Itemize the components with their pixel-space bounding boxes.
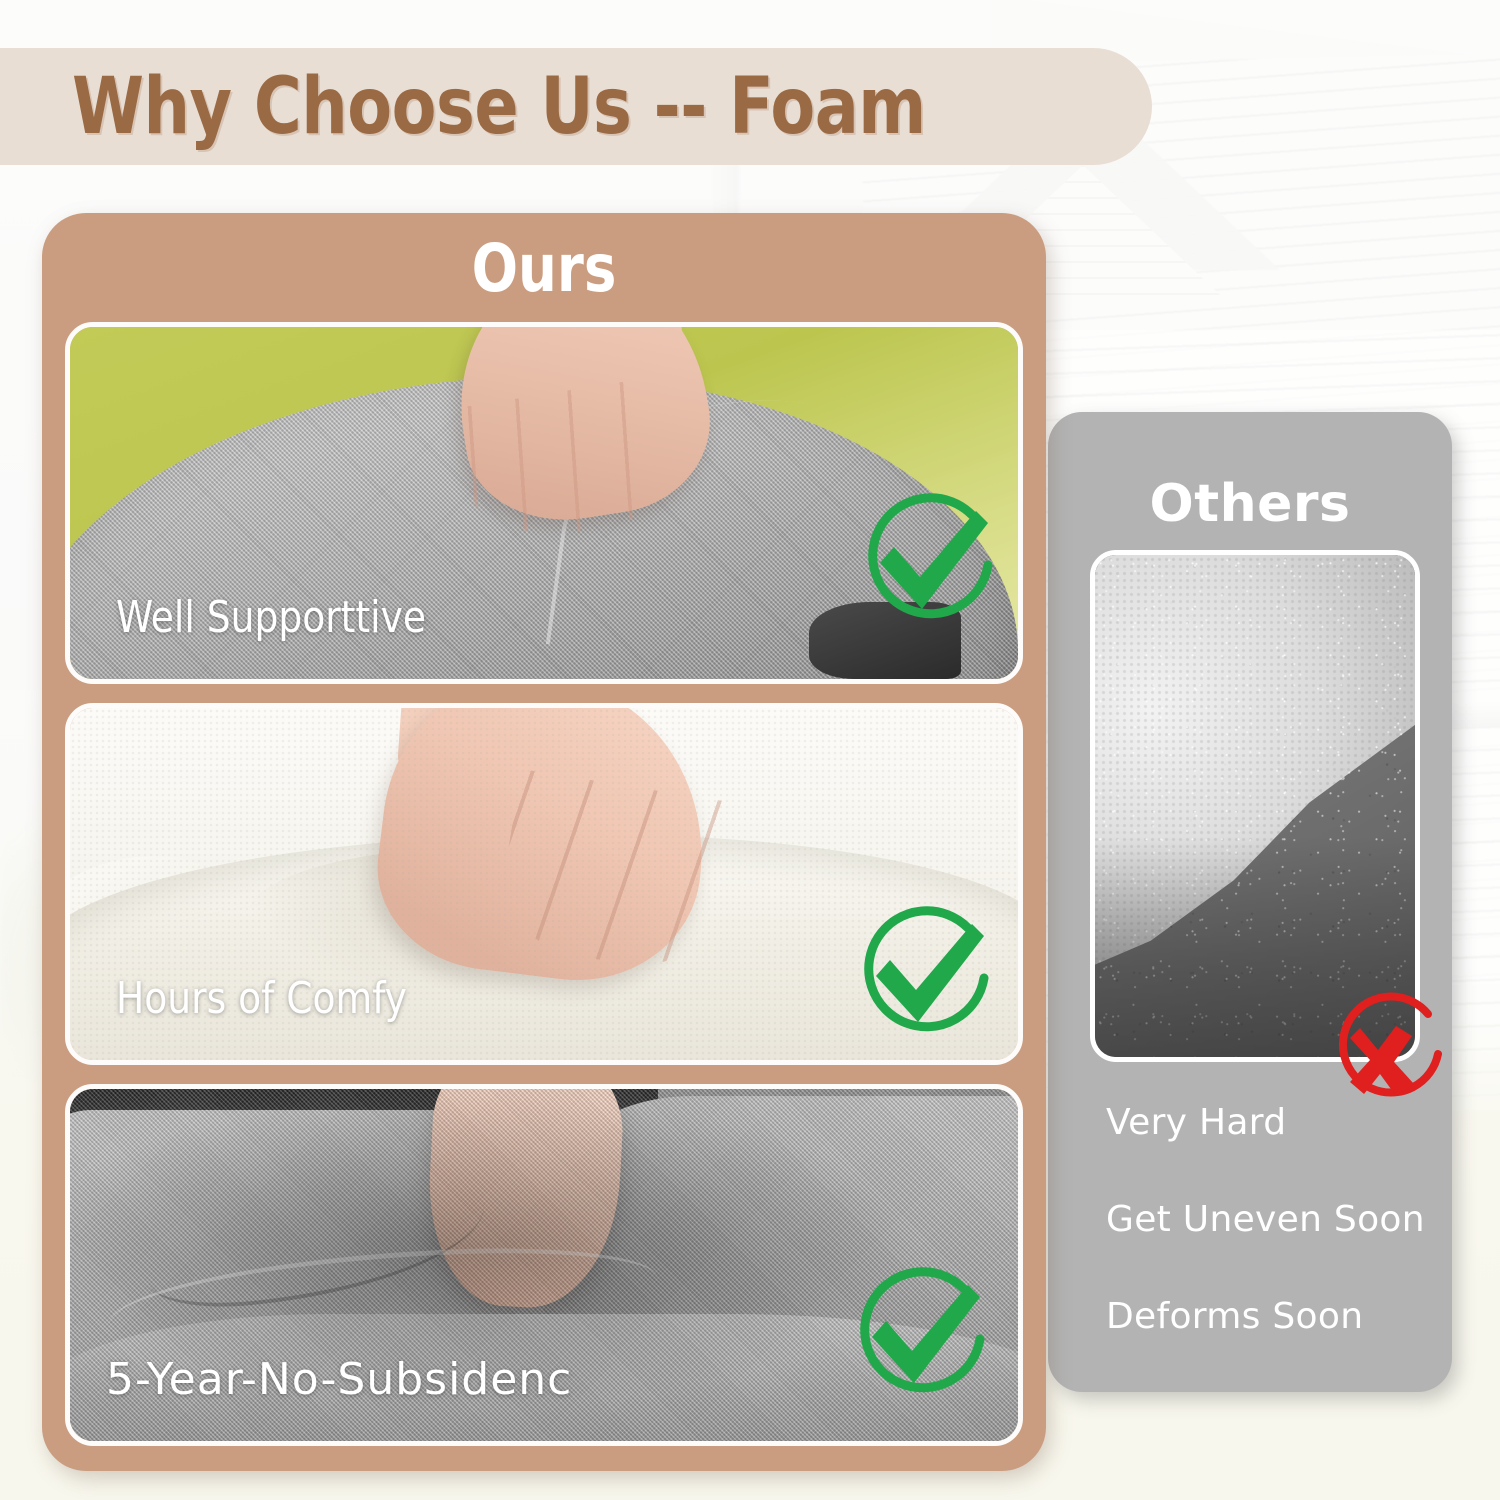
feature-caption-2: Hours of Comfy — [116, 973, 407, 1024]
page-title: Why Choose Us -- Foam — [72, 62, 926, 152]
title-banner: Why Choose Us -- Foam — [0, 48, 1152, 165]
cross-mark-icon — [1320, 992, 1450, 1122]
ours-feature-photo-2: Hours of Comfy — [65, 703, 1023, 1065]
ours-feature-photo-1: Well Supporttive — [65, 322, 1023, 684]
feature-caption-1: Well Supporttive — [116, 592, 426, 643]
others-panel-title: Others — [1048, 474, 1452, 534]
check-mark-icon — [854, 489, 1004, 639]
check-mark-icon — [850, 902, 1000, 1052]
ours-feature-photo-3: 5-Year-No-Subsidenc — [65, 1084, 1023, 1446]
others-drawback-item: Get Uneven Soon — [1106, 1199, 1436, 1240]
others-panel: Others Very Hard Get Uneven Soon Deforms… — [1048, 412, 1452, 1392]
feature-caption-3: 5-Year-No-Subsidenc — [106, 1354, 572, 1405]
infographic-canvas: Why Choose Us -- Foam Others Very Hard G… — [0, 0, 1500, 1500]
check-mark-icon — [846, 1263, 996, 1413]
ours-panel-title: Ours — [82, 230, 1006, 307]
others-drawback-item: Deforms Soon — [1106, 1296, 1436, 1337]
others-drawback-list: Very Hard Get Uneven Soon Deforms Soon — [1106, 1102, 1436, 1393]
others-foam-photo — [1090, 550, 1420, 1062]
ours-panel: Ours Well Supporttive — [42, 213, 1046, 1471]
